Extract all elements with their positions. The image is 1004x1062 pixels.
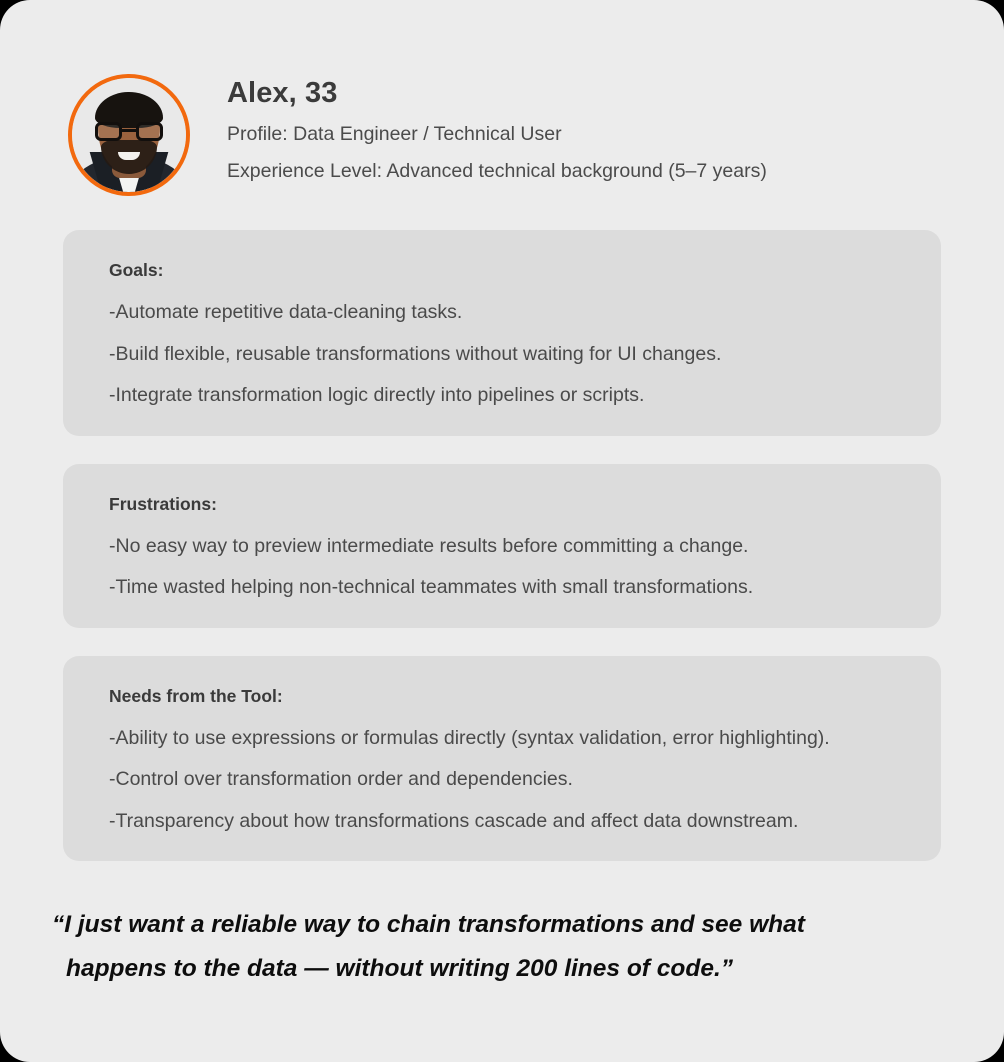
persona-quote-line-1: “I just want a reliable way to chain tra… — [52, 911, 805, 938]
persona-name: Alex, 33 — [227, 76, 767, 111]
avatar-glasses-bridge — [122, 129, 136, 132]
persona-sections: Goals: -Automate repetitive data-cleanin… — [63, 230, 941, 889]
glasses-icon — [95, 122, 163, 142]
persona-quote: “I just want a reliable way to chain tra… — [52, 903, 952, 990]
section-card-needs-from-the-tool: Needs from the Tool: -Ability to use exp… — [63, 656, 941, 862]
section-title-frustrations: Frustrations: — [109, 494, 895, 515]
section-list-needs-from-the-tool: -Ability to use expressions or formulas … — [109, 707, 895, 832]
list-item: -Time wasted helping non-technical teamm… — [109, 556, 895, 598]
list-item: -Automate repetitive data-cleaning tasks… — [109, 281, 895, 323]
section-list-goals: -Automate repetitive data-cleaning tasks… — [109, 281, 895, 406]
persona-card: Alex, 33 Profile: Data Engineer / Techni… — [0, 0, 1004, 1062]
persona-quote-line-2: happens to the data — without writing 20… — [52, 947, 952, 991]
section-card-goals: Goals: -Automate repetitive data-cleanin… — [63, 230, 941, 436]
persona-header-text: Alex, 33 Profile: Data Engineer / Techni… — [227, 76, 767, 182]
list-item: -Ability to use expressions or formulas … — [109, 707, 895, 749]
section-list-frustrations: -No easy way to preview intermediate res… — [109, 515, 895, 598]
avatar-lens-right — [136, 122, 163, 141]
avatar — [68, 74, 190, 196]
list-item: -Transparency about how transformations … — [109, 790, 895, 832]
section-card-frustrations: Frustrations: -No easy way to preview in… — [63, 464, 941, 628]
persona-experience-level: Experience Level: Advanced technical bac… — [227, 144, 767, 182]
avatar-lens-left — [95, 122, 122, 141]
list-item: -Integrate transformation logic directly… — [109, 364, 895, 406]
list-item: -Control over transformation order and d… — [109, 748, 895, 790]
section-title-goals: Goals: — [109, 260, 895, 281]
persona-profile: Profile: Data Engineer / Technical User — [227, 111, 767, 145]
list-item: -Build flexible, reusable transformation… — [109, 323, 895, 365]
persona-header: Alex, 33 Profile: Data Engineer / Techni… — [0, 0, 1004, 230]
list-item: -No easy way to preview intermediate res… — [109, 515, 895, 557]
avatar-photo-icon — [72, 78, 186, 192]
section-title-needs-from-the-tool: Needs from the Tool: — [109, 686, 895, 707]
